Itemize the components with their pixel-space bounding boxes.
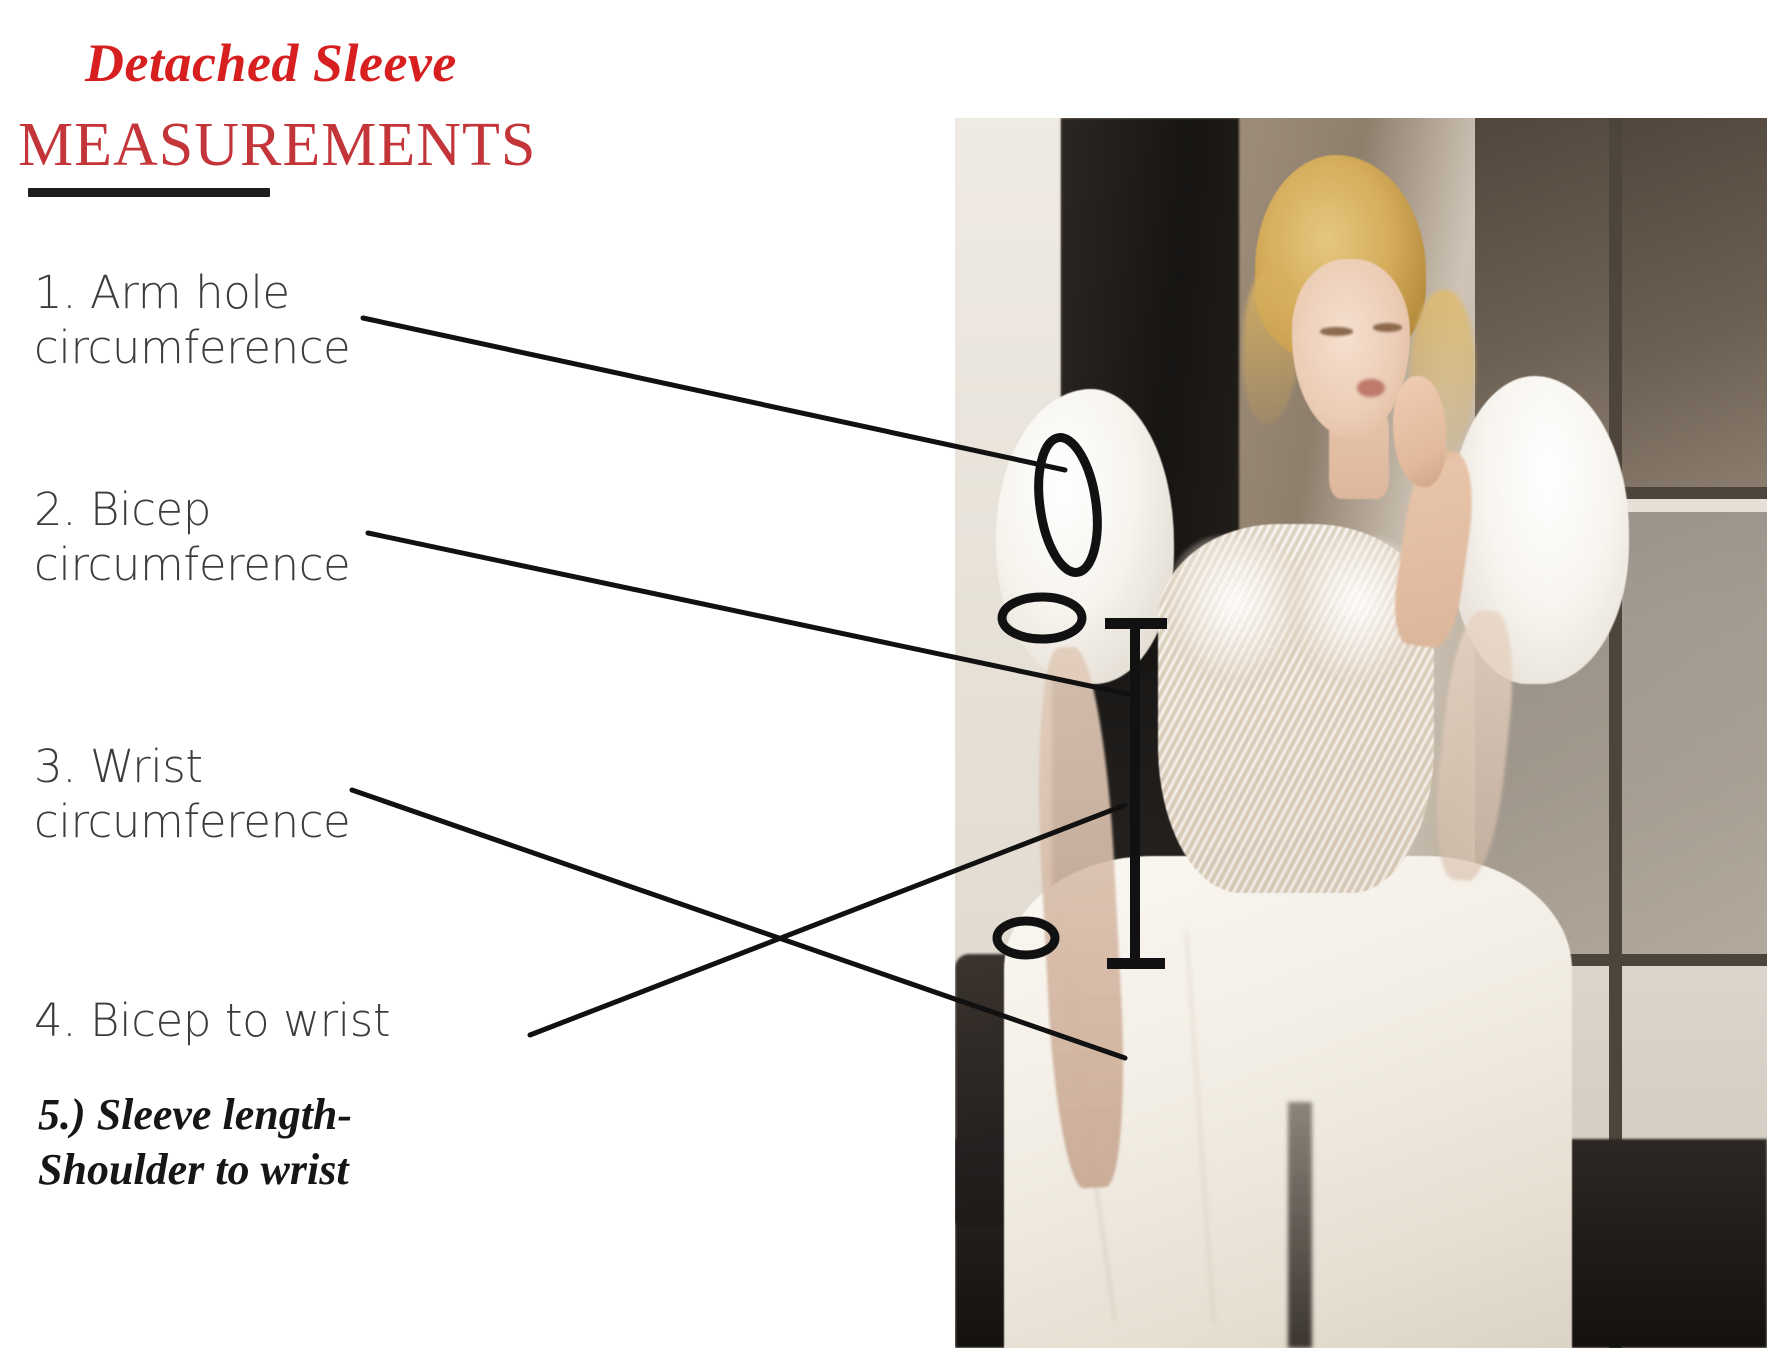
measurement-item-bicep-to-wrist: 4. Bicep to wrist (34, 994, 390, 1049)
infographic-page: Detached Sleeve MEASUREMENTS 1. Arm hole… (0, 0, 1767, 1348)
window-pane-4 (1615, 512, 1767, 955)
text-column: Detached Sleeve MEASUREMENTS 1. Arm hole… (0, 0, 955, 1348)
puff-sleeve-left (996, 389, 1175, 684)
title-underline-rule (28, 188, 270, 197)
model-eyebrow (1320, 327, 1352, 336)
page-title-script: Detached Sleeve (85, 32, 457, 94)
measurement-item-wrist: 3. Wrist circumference (34, 740, 350, 850)
model-lips (1357, 379, 1385, 397)
measurement-item-bicep: 2. Bicep circumference (34, 483, 350, 593)
photo-scene (955, 118, 1767, 1348)
page-title-main: MEASUREMENTS (18, 110, 536, 181)
measurement-item-arm-hole: 1. Arm hole circumference (34, 266, 350, 376)
window-pane-2 (1615, 118, 1767, 487)
model-photo (955, 118, 1767, 1348)
skirt-slit (1288, 1102, 1312, 1348)
bodice-highlight-left (1166, 536, 1304, 684)
measurement-item-sleeve-length: 5.) Sleeve length- Shoulder to wrist (38, 1087, 352, 1197)
model-eyebrow (1373, 323, 1401, 332)
